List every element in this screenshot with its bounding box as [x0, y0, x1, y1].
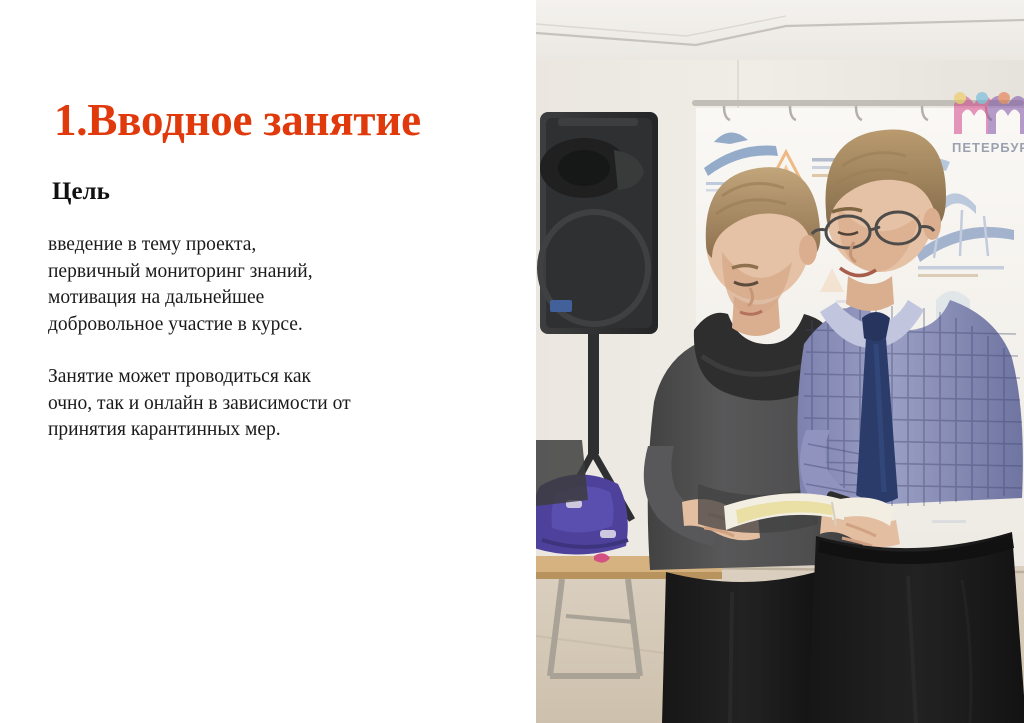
text-panel: 1.Вводное занятие Цель введение в тему п… [0, 0, 536, 723]
body-paragraph-format: Занятие может проводиться как очно, так … [48, 364, 468, 444]
body-text-block: введение в тему проекта, первичный монит… [48, 232, 468, 444]
presentation-slide: 1.Вводное занятие Цель введение в тему п… [0, 0, 1024, 723]
section-subheading: Цель [52, 178, 110, 206]
photo-illustration: ПЕТЕРБУРГ [536, 0, 1024, 723]
classroom-photo: ПЕТЕРБУРГ [536, 0, 1024, 723]
photo-tone [536, 0, 1024, 723]
body-paragraph-goal: введение в тему проекта, первичный монит… [48, 232, 468, 338]
page-title: 1.Вводное занятие [54, 97, 421, 144]
